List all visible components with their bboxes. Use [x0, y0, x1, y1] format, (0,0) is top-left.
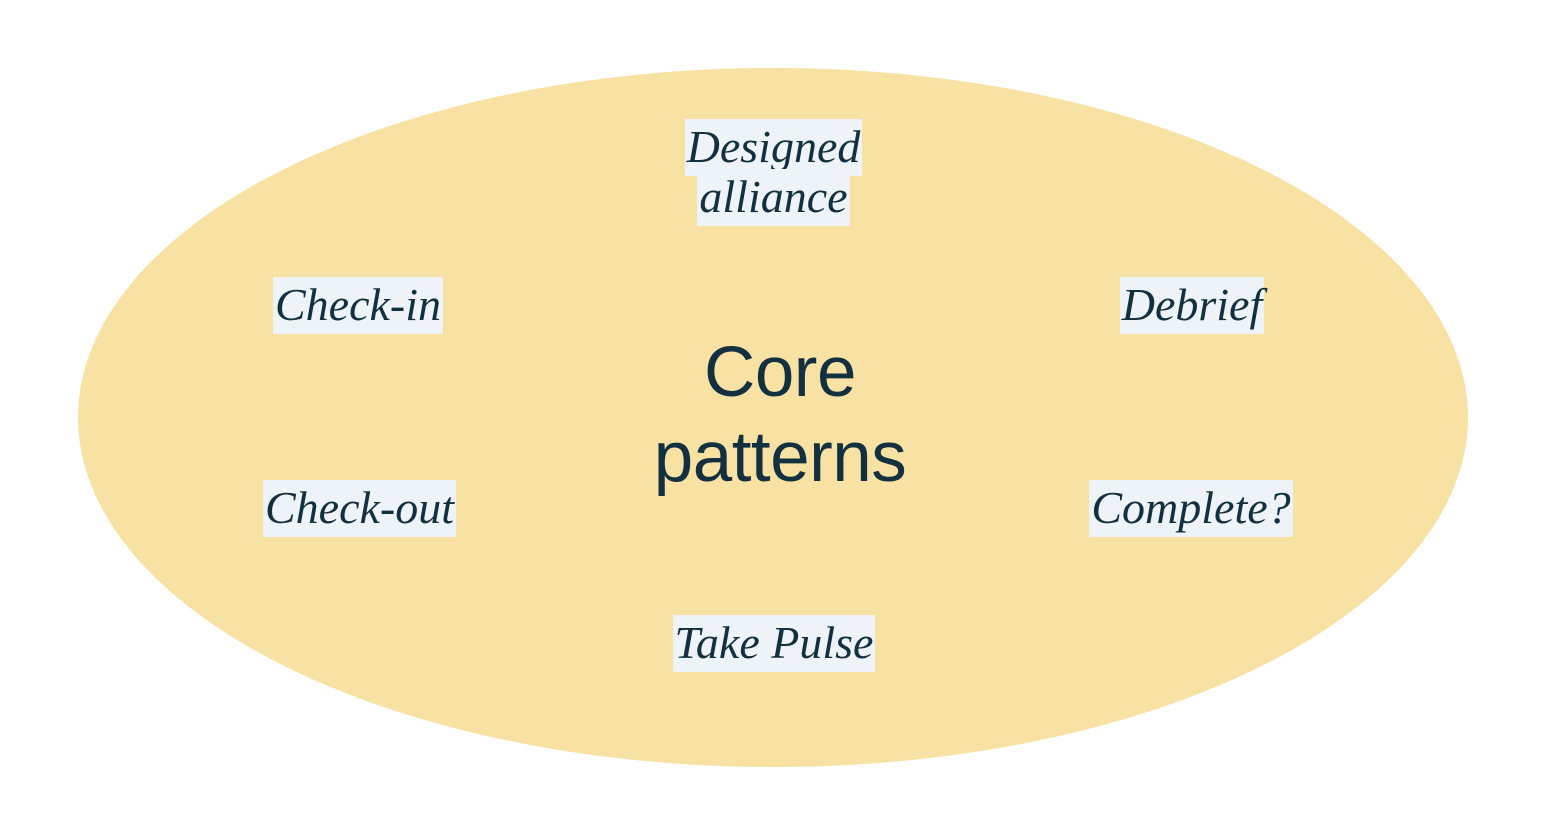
node-label-complete: Complete?: [1089, 480, 1292, 537]
node-label-take-pulse: Take Pulse: [673, 615, 876, 672]
node-check-in: Check-in: [248, 282, 468, 328]
diagram-canvas: Core patterns Designed alliance Check-in…: [0, 0, 1560, 826]
node-label-designed-alliance: Designed alliance: [685, 119, 863, 226]
center-label-core-patterns: Core patterns: [0, 330, 1560, 500]
node-label-check-in: Check-in: [273, 277, 443, 334]
node-label-debrief: Debrief: [1120, 277, 1265, 334]
node-label-check-out: Check-out: [263, 480, 456, 537]
node-designed-alliance: Designed alliance: [596, 122, 951, 222]
node-complete: Complete?: [1066, 485, 1316, 531]
node-check-out: Check-out: [236, 485, 483, 531]
node-debrief: Debrief: [1098, 282, 1286, 328]
node-take-pulse: Take Pulse: [648, 620, 900, 666]
